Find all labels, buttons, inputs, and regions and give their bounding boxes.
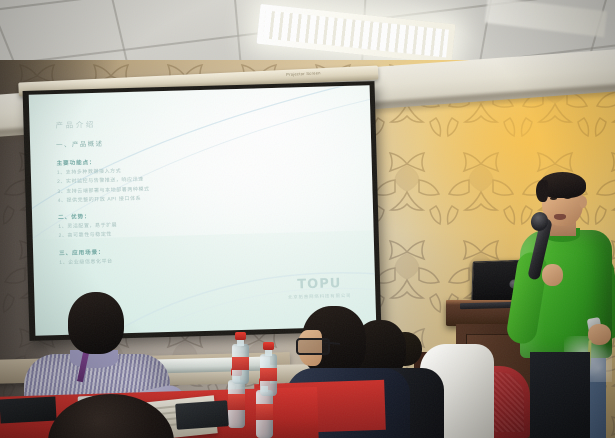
dark-object xyxy=(0,397,57,424)
slide-logo-text: TOPU xyxy=(287,276,351,293)
slide-logo-subtitle: 北京拓普网络科技有限公司 xyxy=(288,293,352,301)
presenter-mouth xyxy=(554,214,566,220)
dark-object xyxy=(175,400,229,430)
water-bottle xyxy=(260,344,277,396)
presenter-left-hand xyxy=(542,264,563,286)
projection-screen-case-label: Projector Screen xyxy=(286,70,321,77)
conference-room-photo: Projector Screen 产品介绍 一、产品概述 主要功能点： 1、支持… xyxy=(0,0,615,438)
water-bottle xyxy=(232,334,249,384)
dark-furniture xyxy=(530,352,590,438)
presenter-ear xyxy=(579,196,587,208)
slide-subtitle: 一、产品概述 xyxy=(56,131,361,150)
slide-logo: TOPU 北京拓普网络科技有限公司 xyxy=(287,276,351,301)
audience-left-head xyxy=(68,292,124,354)
